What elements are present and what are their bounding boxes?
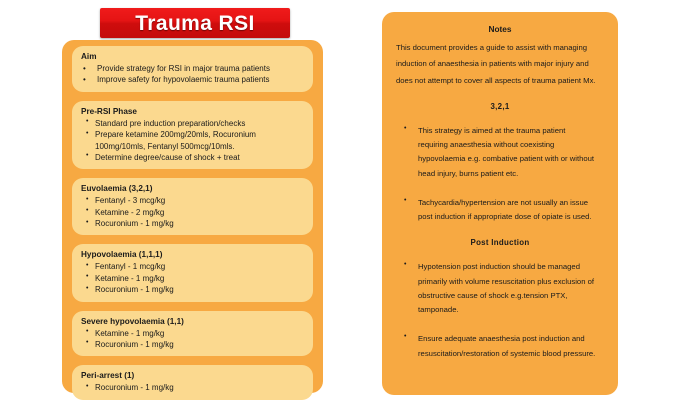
notes-bullet: Hypotension post induction should be man… (396, 260, 604, 317)
notes-bullet-line: tamponade. (418, 303, 604, 317)
protocol-line: Standard pre induction preparation/check… (81, 118, 305, 129)
protocol-panel: AimProvide strategy for RSI in major tra… (62, 40, 323, 393)
protocol-card-lines: Provide strategy for RSI in major trauma… (81, 63, 305, 86)
notes-bullet-line: Tachycardia/hypertension are not usually… (418, 196, 604, 210)
protocol-card-lines: Ketamine - 1 mg/kgRocuronium - 1 mg/kg (81, 328, 305, 351)
notes-panel: Notes This document provides a guide to … (382, 12, 618, 395)
notes-intro-line: induction of anaesthesia in patients wit… (396, 57, 604, 71)
protocol-card: AimProvide strategy for RSI in major tra… (72, 46, 313, 92)
protocol-line: Improve safety for hypovolaemic trauma p… (81, 74, 305, 85)
protocol-line: 100mg/10mls, Fentanyl 500mcg/10mls. (81, 141, 305, 152)
protocol-card-title: Euvolaemia (3,2,1) (81, 183, 305, 194)
protocol-card-lines: Fentanyl - 3 mcg/kgKetamine - 2 mg/kgRoc… (81, 195, 305, 229)
protocol-card-title: Pre-RSI Phase (81, 106, 305, 117)
protocol-card: Severe hypovolaemia (1,1)Ketamine - 1 mg… (72, 311, 313, 357)
notes-bullet: Tachycardia/hypertension are not usually… (396, 196, 604, 225)
protocol-card: Hypovolaemia (1,1,1)Fentanyl - 1 mcg/kgK… (72, 244, 313, 301)
protocol-card-lines: Standard pre induction preparation/check… (81, 118, 305, 163)
protocol-line: Rocuronium - 1 mg/kg (81, 382, 305, 393)
protocol-line: Rocuronium - 1 mg/kg (81, 284, 305, 295)
protocol-line: Prepare ketamine 200mg/20mls, Rocuronium (81, 129, 305, 140)
notes-bullet-line: hypovolaemia e.g. combative patient with… (418, 152, 604, 166)
notes-section-heading-321: 3,2,1 (396, 102, 604, 111)
protocol-line: Fentanyl - 3 mcg/kg (81, 195, 305, 206)
page-title-banner: Trauma RSI (100, 8, 290, 38)
notes-bullet-list-321: This strategy is aimed at the trauma pat… (396, 124, 604, 225)
notes-heading: Notes (396, 24, 604, 34)
page-title: Trauma RSI (135, 13, 255, 34)
notes-intro-line: This document provides a guide to assist… (396, 41, 604, 55)
notes-bullet-line: requiring anaesthesia without coexisting (418, 138, 604, 152)
protocol-card: Peri-arrest (1)Rocuronium - 1 mg/kg (72, 365, 313, 399)
protocol-card-title: Peri-arrest (1) (81, 370, 305, 381)
notes-section-heading-post-induction: Post Induction (396, 238, 604, 247)
notes-bullet-line: head injury, burns patient etc. (418, 167, 604, 181)
protocol-line: Rocuronium - 1 mg/kg (81, 339, 305, 350)
notes-bullet: This strategy is aimed at the trauma pat… (396, 124, 604, 181)
protocol-card-lines: Rocuronium - 1 mg/kg (81, 382, 305, 393)
notes-intro-line: does not attempt to cover all aspects of… (396, 74, 604, 88)
protocol-card: Pre-RSI PhaseStandard pre induction prep… (72, 101, 313, 170)
protocol-line: Provide strategy for RSI in major trauma… (81, 63, 305, 74)
protocol-line: Ketamine - 1 mg/kg (81, 273, 305, 284)
notes-bullet-line: post induction if appropriate dose of op… (418, 210, 604, 224)
notes-bullet-line: Hypotension post induction should be man… (418, 260, 604, 274)
notes-bullet-line: resuscitation/restoration of systemic bl… (418, 347, 604, 361)
protocol-line: Ketamine - 2 mg/kg (81, 207, 305, 218)
notes-bullet-line: This strategy is aimed at the trauma pat… (418, 124, 604, 138)
protocol-card: Euvolaemia (3,2,1)Fentanyl - 3 mcg/kgKet… (72, 178, 313, 235)
protocol-card-title: Aim (81, 51, 305, 62)
protocol-card-list: AimProvide strategy for RSI in major tra… (72, 46, 313, 400)
notes-bullet-line: obstructive cause of shock e.g.tension P… (418, 289, 604, 303)
notes-intro-paragraph: This document provides a guide to assist… (396, 41, 604, 88)
protocol-line: Ketamine - 1 mg/kg (81, 328, 305, 339)
notes-bullet: Ensure adequate anaesthesia post inducti… (396, 332, 604, 361)
protocol-line: Determine degree/cause of shock + treat (81, 152, 305, 163)
notes-bullet-line: Ensure adequate anaesthesia post inducti… (418, 332, 604, 346)
protocol-card-lines: Fentanyl - 1 mcg/kgKetamine - 1 mg/kgRoc… (81, 261, 305, 295)
protocol-card-title: Severe hypovolaemia (1,1) (81, 316, 305, 327)
protocol-line: Rocuronium - 1 mg/kg (81, 218, 305, 229)
notes-bullet-line: primarily with volume resuscitation plus… (418, 275, 604, 289)
protocol-line: Fentanyl - 1 mcg/kg (81, 261, 305, 272)
protocol-card-title: Hypovolaemia (1,1,1) (81, 249, 305, 260)
notes-bullet-list-post-induction: Hypotension post induction should be man… (396, 260, 604, 361)
